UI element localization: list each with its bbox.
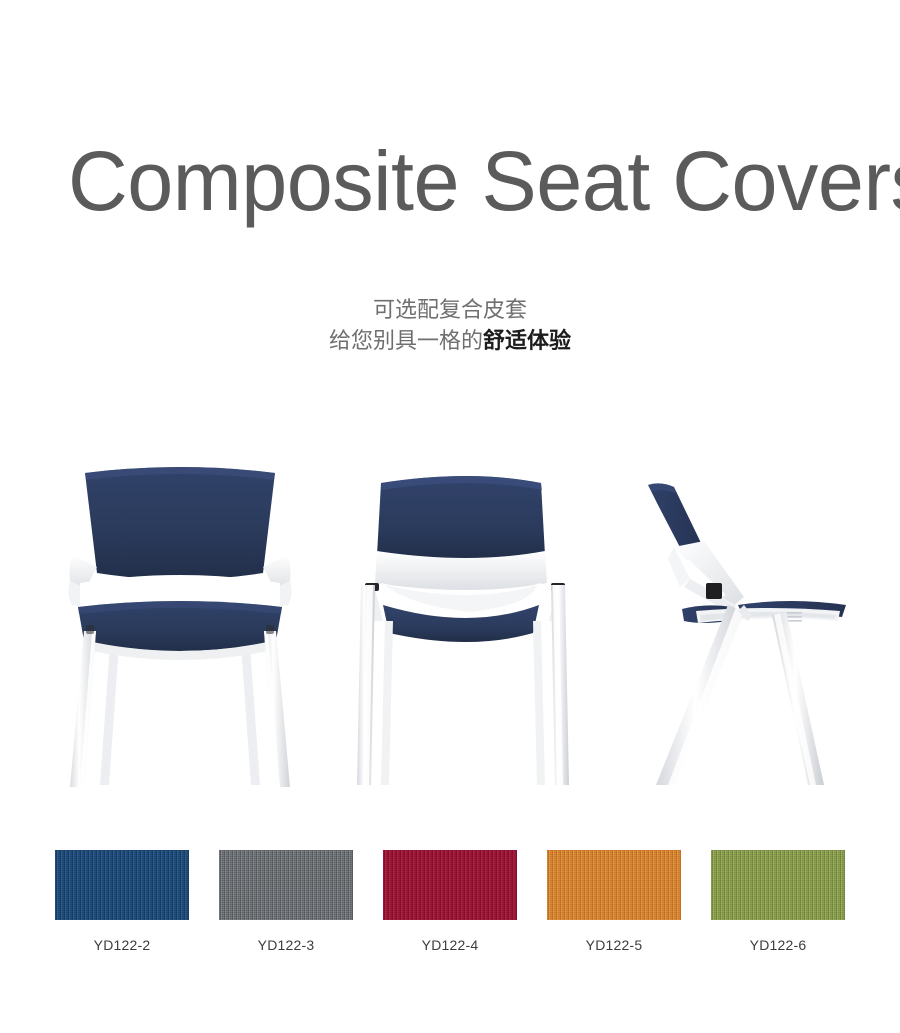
swatch-chip[interactable] <box>219 850 353 920</box>
chair-gallery <box>0 455 900 800</box>
subtitle-line-2-emphasis: 舒适体验 <box>483 328 571 353</box>
subtitle-line-1: 可选配复合皮套 <box>0 294 900 325</box>
swatch-item[interactable]: YD122-4 <box>383 850 517 965</box>
swatch-chip[interactable] <box>383 850 517 920</box>
swatch-chip[interactable] <box>547 850 681 920</box>
swatch-label: YD122-4 <box>422 937 479 953</box>
swatch-item[interactable]: YD122-2 <box>55 850 189 965</box>
swatch-chip[interactable] <box>55 850 189 920</box>
fabric-swatch-row: YD122-2 YD122-3 YD122-4 YD122-5 YD122-6 <box>55 850 845 965</box>
subtitle-block: 可选配复合皮套 给您别具一格的舒适体验 <box>0 294 900 356</box>
swatch-item[interactable]: YD122-6 <box>711 850 845 965</box>
subtitle-line-2-normal: 给您别具一格的 <box>329 328 483 353</box>
chair-rear-view <box>345 455 595 800</box>
swatch-item[interactable]: YD122-3 <box>219 850 353 965</box>
swatch-label: YD122-6 <box>750 937 807 953</box>
swatch-label: YD122-5 <box>586 937 643 953</box>
swatch-label: YD122-2 <box>94 937 151 953</box>
swatch-label: YD122-3 <box>258 937 315 953</box>
chair-side-view <box>640 455 870 800</box>
subtitle-line-2: 给您别具一格的舒适体验 <box>0 325 900 356</box>
swatch-item[interactable]: YD122-5 <box>547 850 681 965</box>
chair-front-view <box>40 455 320 800</box>
swatch-chip[interactable] <box>711 850 845 920</box>
page-title: Composite Seat Covers <box>68 139 846 223</box>
